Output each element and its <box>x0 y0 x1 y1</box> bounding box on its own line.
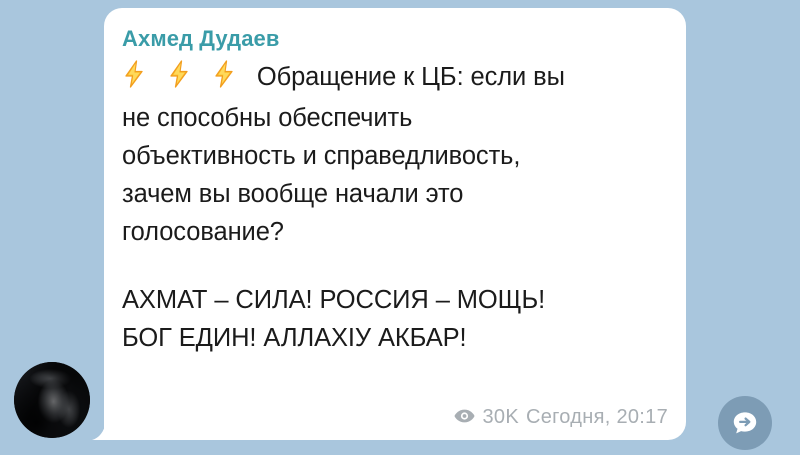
message-bubble[interactable]: Ахмед Дудаев <box>104 8 686 440</box>
message-line-2: не способны обеспечить <box>122 99 670 137</box>
eye-icon <box>454 406 475 428</box>
message-text-body: Обращение к ЦБ: если вы не способны обес… <box>122 58 670 357</box>
chat-screen: Ахмед Дудаев <box>0 0 800 455</box>
lightning-emoji-group <box>122 63 257 91</box>
view-count: 30K <box>482 406 519 428</box>
comment-forward-button[interactable] <box>718 396 772 450</box>
message-shout-line-1: АХМАТ – СИЛА! РОССИЯ – МОЩЬ! <box>122 281 670 319</box>
paragraph-gap <box>122 251 670 281</box>
message-line-3: объективность и справедливость, <box>122 137 670 175</box>
message-line-1: Обращение к ЦБ: если вы <box>257 63 565 91</box>
message-author-name[interactable]: Ахмед Дудаев <box>122 26 670 52</box>
message-meta: 30K Сегодня, 20:17 <box>454 406 668 428</box>
bubble-tail <box>92 422 106 440</box>
message-shout-line-2: БОГ ЕДИН! АЛЛАХIУ АКБАР! <box>122 319 670 357</box>
message-line-5: голосование? <box>122 213 670 251</box>
message-line-4: зачем вы вообще начали это <box>122 175 670 213</box>
avatar-shading <box>14 362 90 438</box>
message-timestamp: Сегодня, 20:17 <box>526 406 668 428</box>
high-voltage-icon <box>122 60 146 99</box>
sender-avatar[interactable] <box>14 362 90 438</box>
comment-arrow-icon <box>731 409 759 437</box>
high-voltage-icon <box>167 60 191 99</box>
high-voltage-icon <box>212 60 236 99</box>
